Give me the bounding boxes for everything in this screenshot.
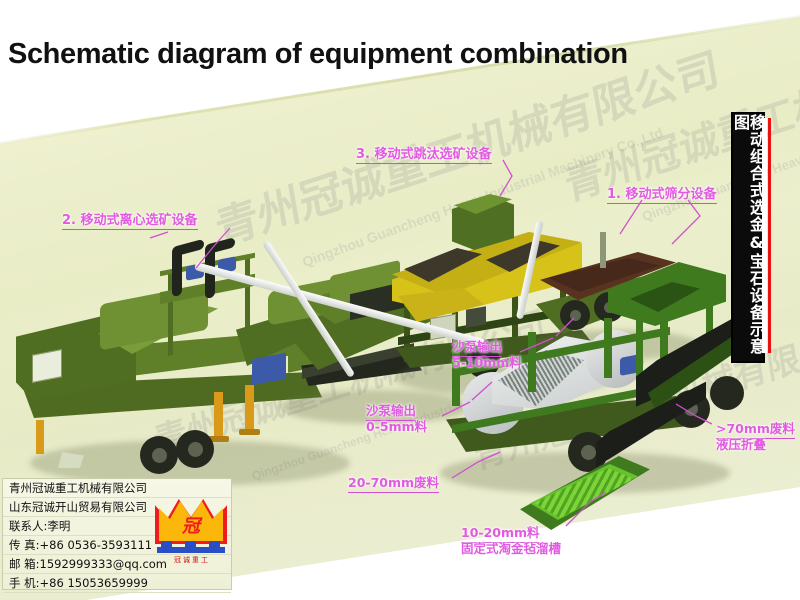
annotation-pump-5-10-line2: 5-10mm料 <box>452 352 522 371</box>
logo-caption: 冠诚重工 <box>158 555 226 565</box>
schematic-canvas: 青州冠诚重工机械有限公司 Qingzhou Guancheng Heavy In… <box>0 0 800 600</box>
contact-company-1: 青州冠诚重工机械有限公司 <box>3 479 231 498</box>
banner-red-rule <box>768 118 771 353</box>
vertical-banner-text: 移动组合式选金&宝石设备示意图 <box>732 114 764 361</box>
contact-email-value: 1592999333@qq.com <box>40 557 167 571</box>
right-jig-wheel-hub-1 <box>570 310 581 321</box>
trommel-frame-post-2 <box>528 332 536 392</box>
contact-mobile-value: +86 15053659999 <box>40 576 148 590</box>
contact-mobile-row: 手 机:+86 15053659999 <box>3 574 231 593</box>
logo-base-block-3 <box>209 541 220 548</box>
contact-fax-value: +86 0536-3593111 <box>40 538 153 552</box>
annotation-waste-20-70: 20-70mm废料 <box>348 472 439 493</box>
annotation-waste-70-line2: 液压折叠 <box>716 434 766 453</box>
contact-fax-label: 传 真 <box>9 538 36 552</box>
crown-letter: 冠 <box>182 512 200 538</box>
logo-base-block-1 <box>161 541 172 548</box>
callout-3-label: 3. 移动式跳汰选矿设备 <box>356 143 492 164</box>
contact-email-label: 邮 箱 <box>9 557 36 571</box>
page-title: Schematic diagram of equipment combinati… <box>8 38 628 71</box>
trommel-wheel-3 <box>710 376 744 410</box>
trommel-hopper-leg-1 <box>636 312 643 378</box>
callout-1-label: 1. 移动式筛分设备 <box>607 183 717 204</box>
annotation-pump-0-5-line2: 0-5mm料 <box>366 416 427 435</box>
jig-control-box-2 <box>466 306 486 328</box>
logo-base-block-2 <box>185 541 196 548</box>
trommel-wheel-1-hub <box>581 445 596 460</box>
company-logo: 冠 冠诚重工 <box>155 499 227 567</box>
banner-white-rule <box>762 118 767 353</box>
centrifugal-wheel-2-hub <box>188 442 203 457</box>
contact-person-label: 联系人 <box>9 519 44 533</box>
contact-person-value: 李明 <box>47 519 70 533</box>
trommel-frame-post-3 <box>604 318 612 378</box>
annotation-sluice-line2: 固定式淘金毡溜槽 <box>461 538 561 557</box>
vertical-banner: 移动组合式选金&宝石设备示意图 <box>731 112 765 363</box>
hydraulic-jack-2 <box>245 385 254 433</box>
centrifugal-wheel-1-hub <box>152 448 167 463</box>
centrifugal-control-panel <box>32 349 62 383</box>
callout-2-label: 2. 移动式离心选矿设备 <box>62 209 198 230</box>
hydraulic-jack-1 <box>214 392 223 440</box>
right-jig-post <box>600 232 606 268</box>
hydraulic-jack-3 <box>36 420 44 454</box>
contact-mobile-label: 手 机 <box>9 576 36 590</box>
hydraulic-jack-2-foot <box>239 429 260 435</box>
contact-card: 青州冠诚重工机械有限公司 山东冠诚开山贸易有限公司 联系人:李明 传 真:+86… <box>2 478 232 590</box>
